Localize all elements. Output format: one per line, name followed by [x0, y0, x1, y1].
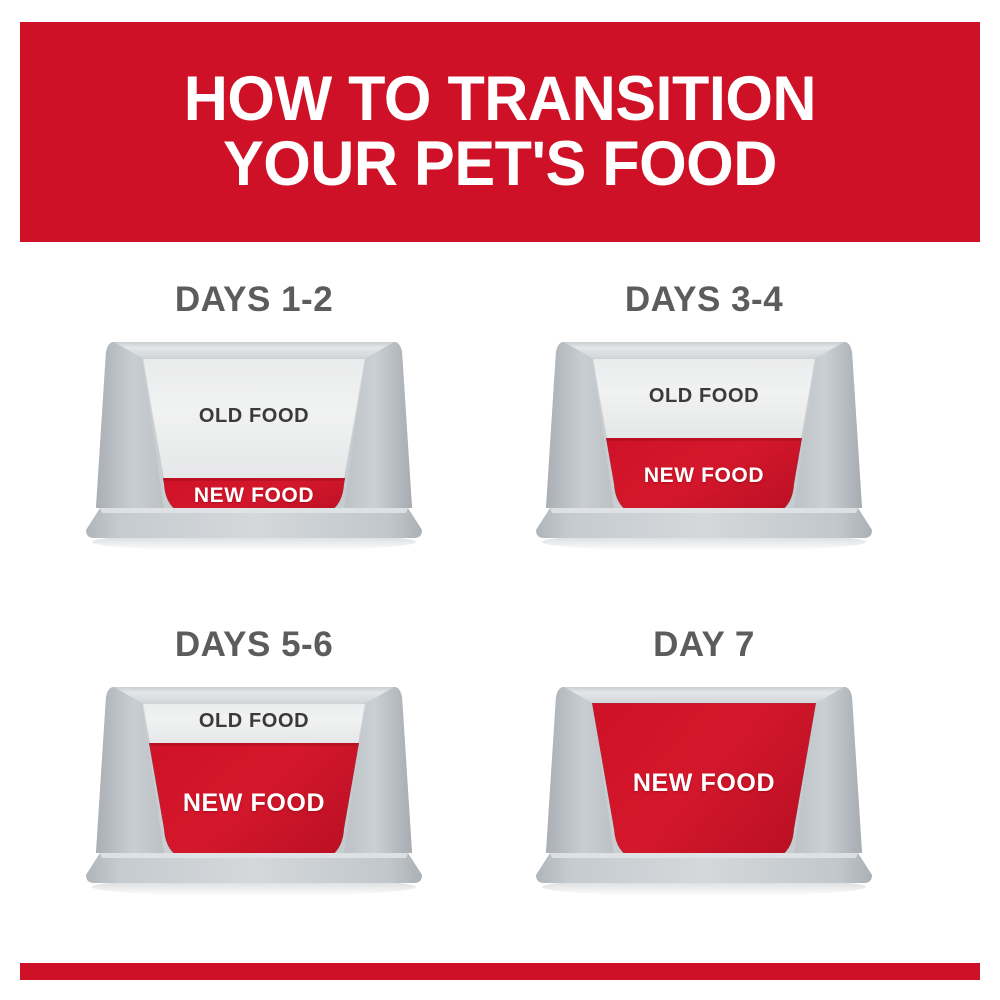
bowl-rim — [114, 342, 394, 358]
bowl-graphic — [530, 677, 878, 905]
bowl-graphic — [530, 332, 878, 560]
header-banner: HOW TO TRANSITION YOUR PET'S FOOD — [20, 22, 980, 242]
food-bowl-days-5-6: OLD FOODNEW FOOD — [80, 677, 428, 905]
transition-steps-grid: DAYS 1-2 — [0, 250, 1000, 950]
step-day-label: DAYS 5-6 — [30, 625, 478, 665]
footer-red-rule — [20, 963, 980, 980]
step-day-label: DAYS 3-4 — [480, 280, 928, 320]
transition-step-day-7: DAY 7 — [480, 625, 928, 975]
bowl-graphic — [80, 677, 428, 905]
transition-step-days-3-4: DAYS 3-4 — [480, 280, 928, 630]
food-bowl-days-3-4: OLD FOODNEW FOOD — [530, 332, 878, 560]
food-bowl-days-1-2: OLD FOODNEW FOOD — [80, 332, 428, 560]
bowl-base-highlight — [550, 508, 858, 513]
transition-step-days-1-2: DAYS 1-2 — [30, 280, 478, 630]
bowl-base-highlight — [100, 853, 408, 858]
page-title: HOW TO TRANSITION YOUR PET'S FOOD — [184, 67, 816, 197]
bowl-rim — [564, 687, 844, 703]
bowl-base-highlight — [550, 853, 858, 858]
bowl-rim — [564, 342, 844, 358]
food-bowl-day-7: NEW FOOD — [530, 677, 878, 905]
step-day-label: DAYS 1-2 — [30, 280, 478, 320]
bowl-base-highlight — [100, 508, 408, 513]
step-day-label: DAY 7 — [480, 625, 928, 665]
infographic-canvas: HOW TO TRANSITION YOUR PET'S FOOD DAYS 1… — [0, 0, 1000, 1000]
bowl-rim — [114, 687, 394, 703]
transition-step-days-5-6: DAYS 5-6 — [30, 625, 478, 975]
bowl-graphic — [80, 332, 428, 560]
